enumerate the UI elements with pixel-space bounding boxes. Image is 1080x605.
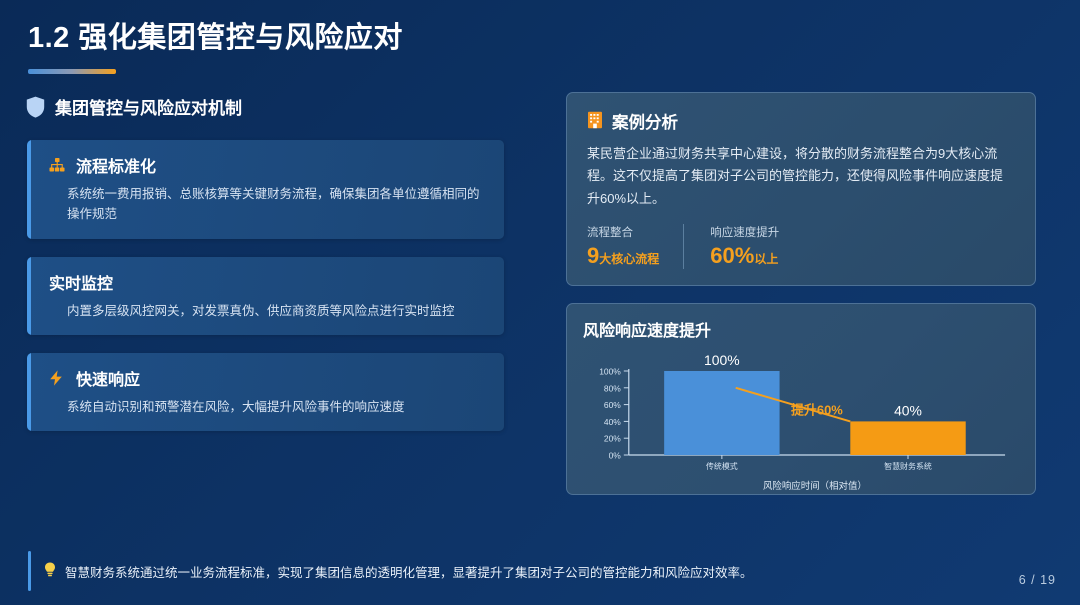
feature-card-description: 系统自动识别和预警潜在风险，大幅提升风险事件的响应速度 (49, 397, 484, 417)
svg-text:100%: 100% (704, 352, 740, 368)
feature-card-rapid-response[interactable]: 快速响应 系统自动识别和预警潜在风险，大幅提升风险事件的响应速度 (27, 353, 504, 431)
case-analysis-header: 案例分析 (587, 109, 1015, 133)
feature-card-header: 实时监控 (49, 270, 484, 294)
case-analysis-title: 案例分析 (612, 109, 678, 133)
feature-card-process-standardization[interactable]: 流程标准化 系统统一费用报销、总账核算等关键财务流程，确保集团各单位遵循相同的操… (27, 140, 504, 239)
stat-number: 60% (710, 243, 754, 268)
stat-unit: 以上 (754, 252, 778, 266)
shield-icon (26, 96, 45, 118)
section-header: 集团管控与风险应对机制 (26, 94, 242, 119)
org-chart-icon (49, 158, 67, 172)
lightning-bolt-icon (49, 370, 67, 386)
chart-title: 风险响应速度提升 (583, 317, 1019, 341)
svg-text:40%: 40% (894, 402, 922, 418)
stat-response-speed: 响应速度提升 60%以上 (683, 224, 803, 269)
svg-text:40%: 40% (604, 417, 621, 427)
stat-value: 9大核心流程 (587, 243, 659, 269)
chart-card: 风险响应速度提升 0%20%40%60%80%100%100%传统模式40%智慧… (566, 303, 1036, 495)
feature-card-list: 流程标准化 系统统一费用报销、总账核算等关键财务流程，确保集团各单位遵循相同的操… (27, 140, 504, 449)
bar-chart: 0%20%40%60%80%100%100%传统模式40%智慧财务系统风险响应时… (583, 345, 1019, 495)
footer-text: 智慧财务系统通过统一业务流程标准，实现了集团信息的透明化管理，显著提升了集团对子… (65, 562, 753, 581)
case-analysis-card: 案例分析 某民营企业通过财务共享中心建设，将分散的财务流程整合为9大核心流程。这… (566, 92, 1036, 286)
footer-note: 智慧财务系统通过统一业务流程标准，实现了集团信息的透明化管理，显著提升了集团对子… (28, 551, 1080, 591)
office-building-icon (587, 111, 603, 132)
stat-value: 60%以上 (710, 243, 779, 269)
feature-card-title: 快速响应 (76, 366, 140, 390)
svg-text:100%: 100% (599, 367, 621, 377)
right-column: 案例分析 某民营企业通过财务共享中心建设，将分散的财务流程整合为9大核心流程。这… (566, 92, 1036, 495)
lightbulb-icon (44, 562, 56, 580)
page-title: 1.2 强化集团管控与风险应对 (28, 14, 403, 56)
stat-label: 响应速度提升 (710, 224, 779, 240)
stat-unit: 大核心流程 (599, 252, 659, 266)
stat-label: 流程整合 (587, 224, 659, 240)
section-header-label: 集团管控与风险应对机制 (55, 94, 242, 119)
feature-card-description: 系统统一费用报销、总账核算等关键财务流程，确保集团各单位遵循相同的操作规范 (49, 184, 484, 225)
svg-text:0%: 0% (609, 451, 622, 461)
feature-card-title: 流程标准化 (76, 153, 156, 177)
case-analysis-stats: 流程整合 9大核心流程 响应速度提升 60%以上 (587, 224, 1015, 269)
svg-text:传统模式: 传统模式 (706, 461, 738, 471)
feature-card-realtime-monitoring[interactable]: 实时监控 内置多层级风控网关，对发票真伪、供应商资质等风险点进行实时监控 (27, 257, 504, 335)
slide-header: 1.2 强化集团管控与风险应对 (28, 14, 403, 74)
svg-text:提升60%: 提升60% (791, 403, 843, 418)
svg-text:20%: 20% (604, 434, 621, 444)
svg-text:80%: 80% (604, 383, 621, 393)
title-underline-divider (28, 69, 116, 74)
svg-text:智慧财务系统: 智慧财务系统 (884, 461, 932, 471)
svg-text:风险响应时间（相对值）: 风险响应时间（相对值） (763, 480, 867, 492)
feature-card-header: 快速响应 (49, 366, 484, 390)
feature-card-header: 流程标准化 (49, 153, 484, 177)
footer-accent-bar (28, 551, 31, 591)
stat-number: 9 (587, 243, 599, 268)
case-analysis-body: 某民营企业通过财务共享中心建设，将分散的财务流程整合为9大核心流程。这不仅提高了… (587, 143, 1015, 210)
feature-card-description: 内置多层级风控网关，对发票真伪、供应商资质等风险点进行实时监控 (49, 301, 484, 321)
page-number: 6 / 19 (1019, 573, 1056, 587)
stat-process-integration: 流程整合 9大核心流程 (587, 224, 683, 269)
feature-card-title: 实时监控 (49, 270, 113, 294)
svg-text:60%: 60% (604, 400, 621, 410)
